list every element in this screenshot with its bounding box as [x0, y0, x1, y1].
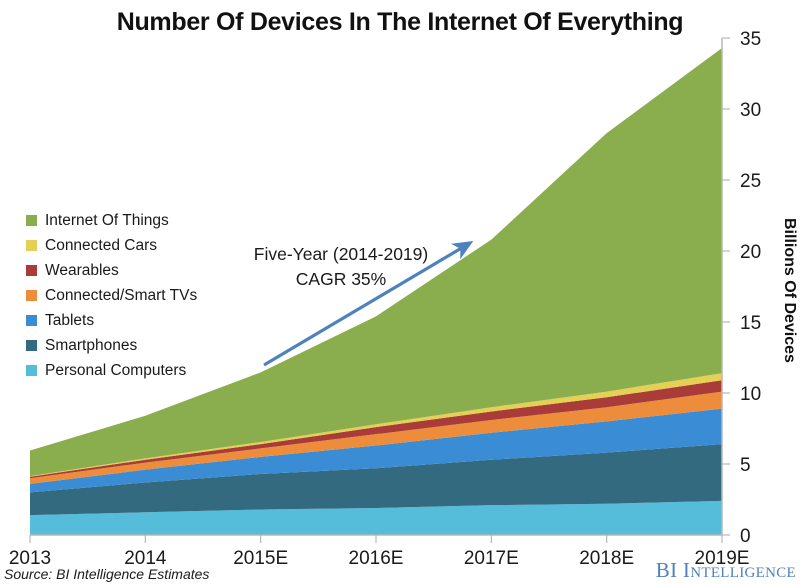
y-axis-tick-label: 15	[740, 313, 761, 334]
y-axis-tick-label: 30	[740, 100, 761, 121]
x-axis-tick-label: 2015E	[233, 548, 288, 569]
chart-legend: Internet Of ThingsConnected CarsWearable…	[26, 208, 246, 383]
legend-item[interactable]: Connected/Smart TVs	[26, 283, 246, 308]
chart-page: Number Of Devices In The Internet Of Eve…	[0, 0, 800, 586]
y-axis-tick-label: 25	[740, 171, 761, 192]
legend-item[interactable]: Smartphones	[26, 333, 246, 358]
y-axis-tick-label: 10	[740, 384, 761, 405]
y-axis-tick-label: 5	[740, 455, 751, 476]
cagr-annotation: Five-Year (2014-2019) CAGR 35%	[228, 242, 454, 292]
legend-item[interactable]: Personal Computers	[26, 358, 246, 383]
legend-item[interactable]: Connected Cars	[26, 233, 246, 258]
y-axis-title: Billions Of Devices	[776, 218, 798, 363]
legend-swatch-icon	[26, 365, 37, 376]
legend-item[interactable]: Internet Of Things	[26, 208, 246, 233]
legend-item[interactable]: Wearables	[26, 258, 246, 283]
legend-item-label: Personal Computers	[45, 362, 186, 380]
x-axis-tick-label: 2017E	[464, 548, 519, 569]
cagr-annotation-line2: CAGR 35%	[228, 267, 454, 292]
x-axis-tick-label: 2016E	[349, 548, 404, 569]
legend-item-label: Tablets	[45, 312, 94, 330]
legend-swatch-icon	[26, 215, 37, 226]
legend-swatch-icon	[26, 340, 37, 351]
legend-swatch-icon	[26, 315, 37, 326]
y-axis-tick-label: 20	[740, 242, 761, 263]
y-axis-tick-label: 35	[740, 29, 761, 50]
legend-swatch-icon	[26, 265, 37, 276]
legend-item-label: Wearables	[45, 262, 119, 280]
legend-item[interactable]: Tablets	[26, 308, 246, 333]
legend-item-label: Internet Of Things	[45, 212, 169, 230]
legend-item-label: Smartphones	[45, 337, 137, 355]
cagr-annotation-line1: Five-Year (2014-2019)	[228, 242, 454, 267]
legend-item-label: Connected Cars	[45, 237, 157, 255]
y-axis-tick-label: 0	[740, 526, 751, 547]
source-note: Source: BI Intelligence Estimates	[4, 566, 209, 582]
legend-item-label: Connected/Smart TVs	[45, 287, 197, 305]
legend-swatch-icon	[26, 240, 37, 251]
brand-watermark: BI Intelligence	[656, 558, 796, 583]
legend-swatch-icon	[26, 290, 37, 301]
x-axis-tick-label: 2018E	[579, 548, 634, 569]
